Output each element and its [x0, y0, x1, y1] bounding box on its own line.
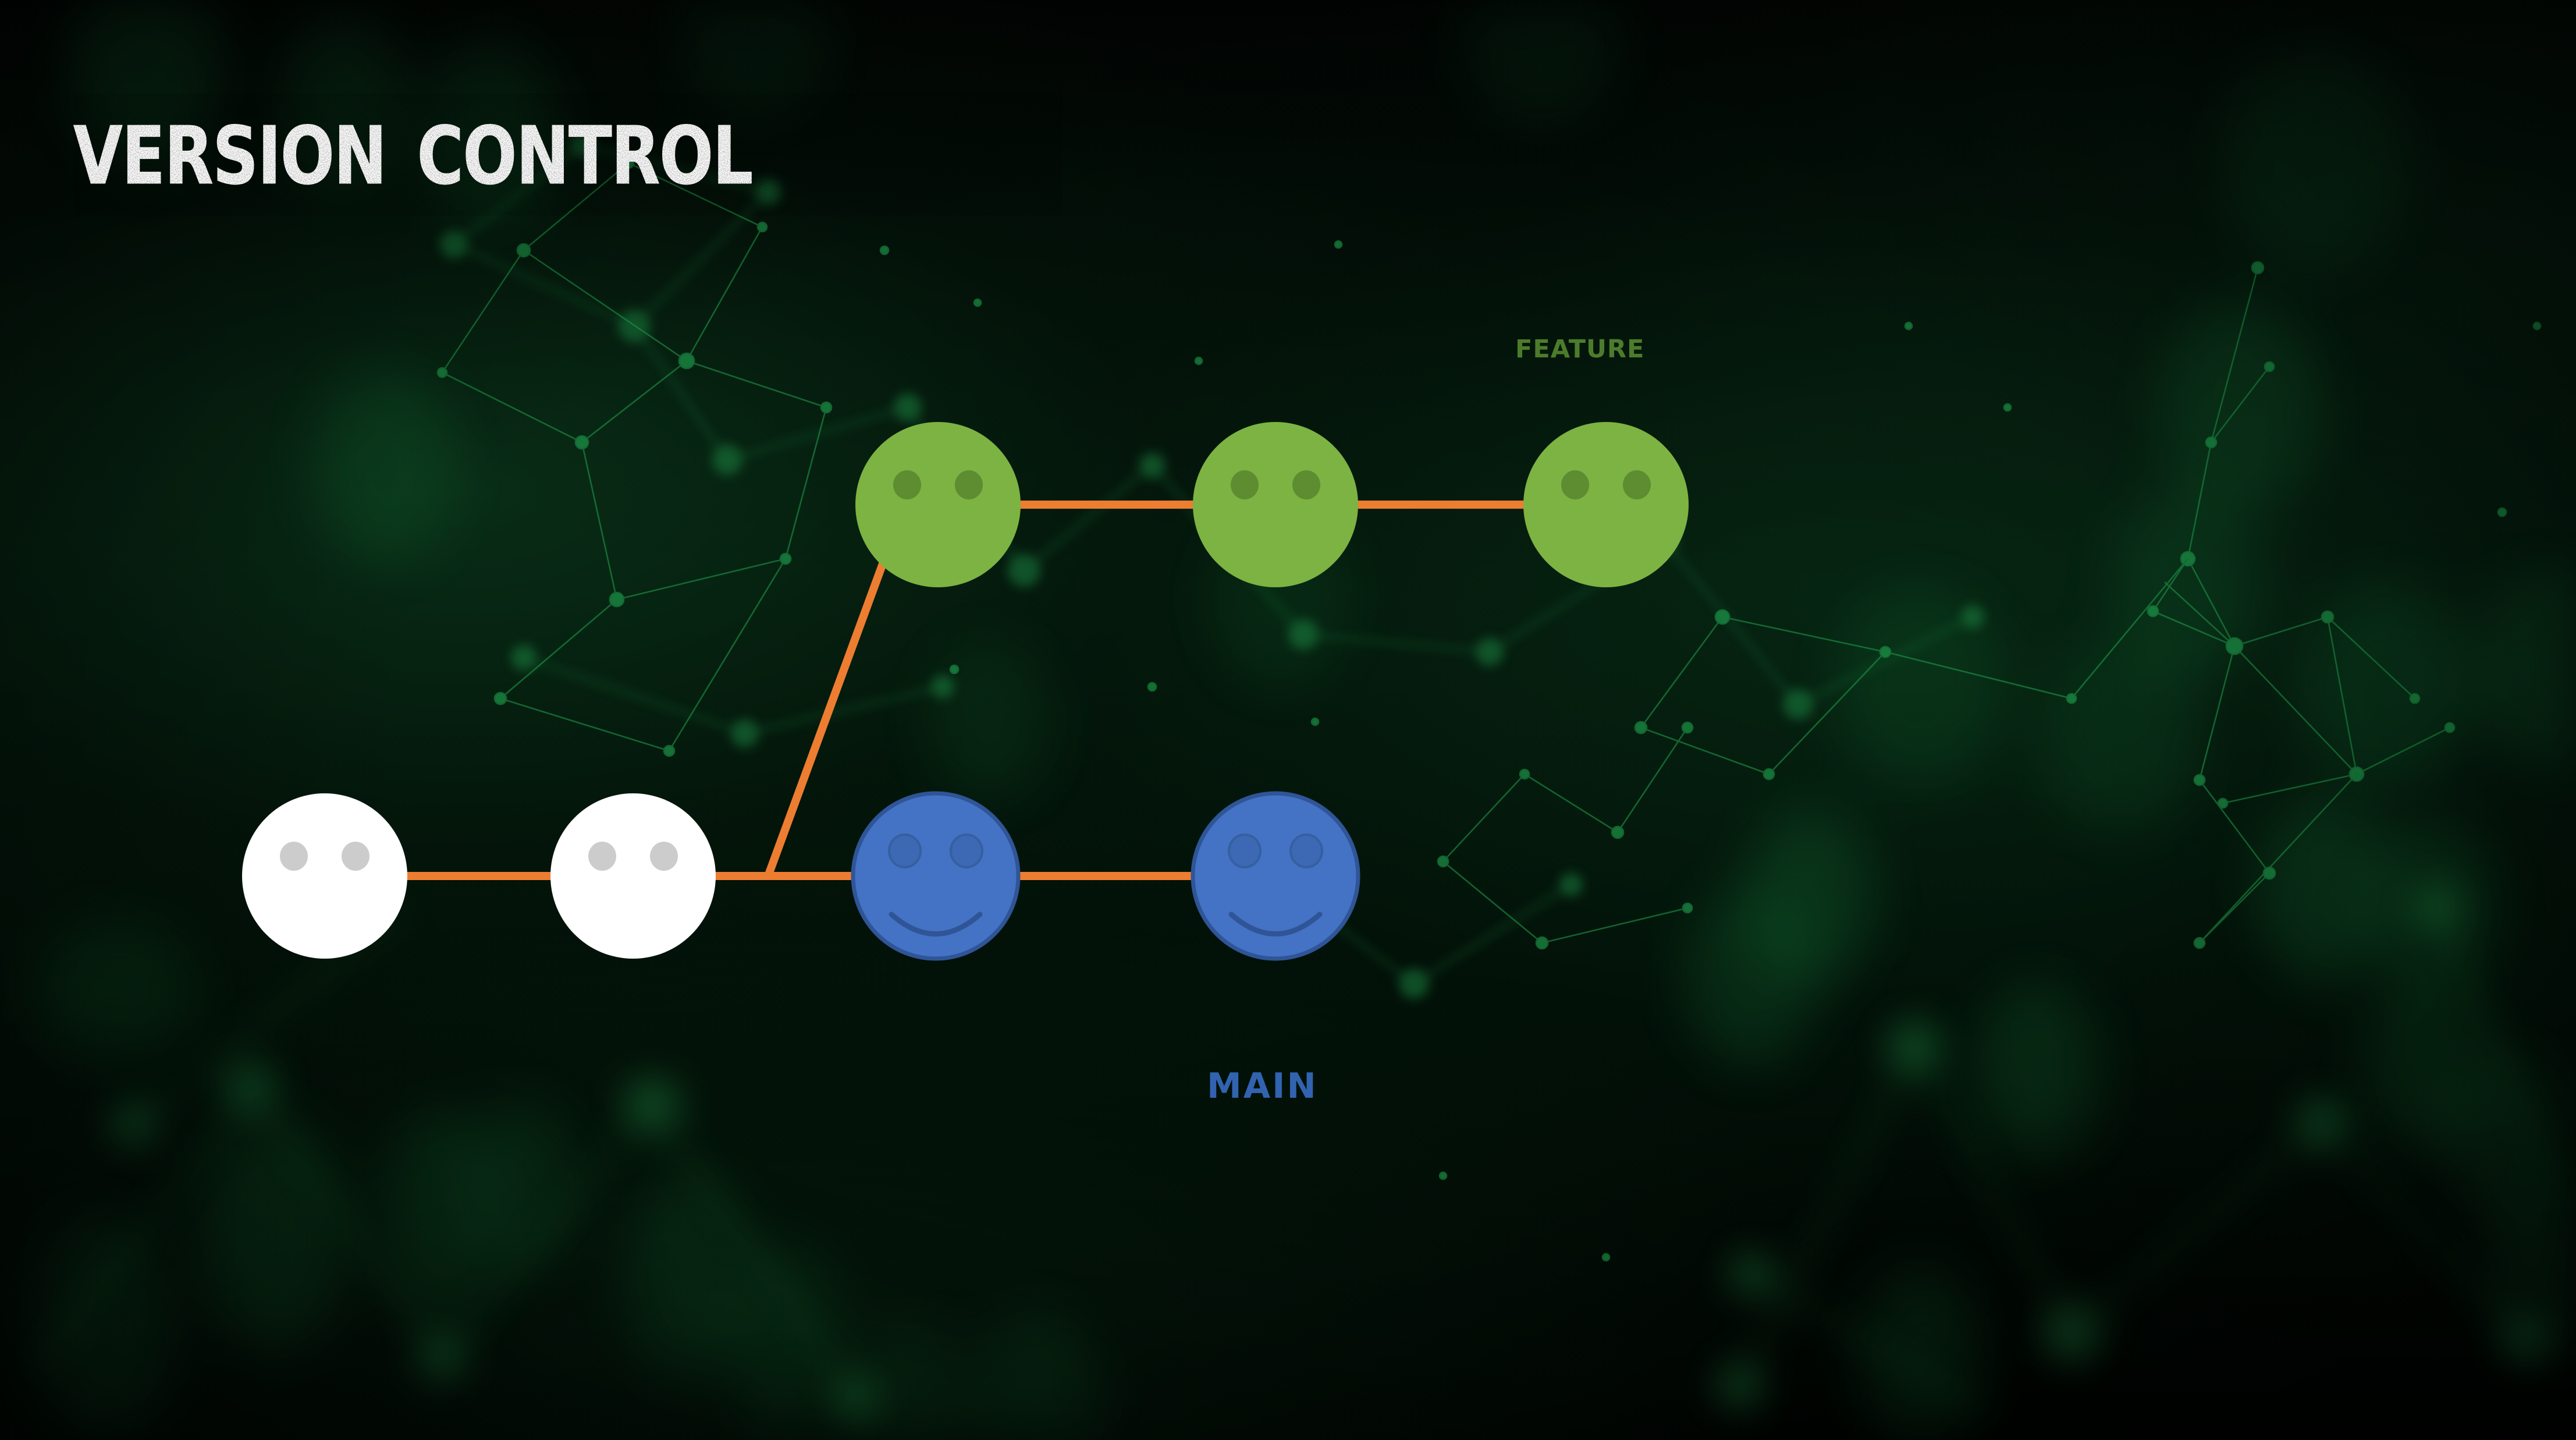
- slide-canvas: Version Control Feature MAIN: [0, 0, 2576, 1440]
- commit-root-1[interactable]: [242, 793, 407, 959]
- commit-main-2[interactable]: [1193, 793, 1358, 959]
- eye-right: [1291, 835, 1322, 867]
- eye-right: [1623, 470, 1651, 499]
- eye-left: [889, 835, 921, 867]
- commit-graph: [0, 0, 2576, 1440]
- commit-root-2[interactable]: [550, 793, 716, 959]
- commit-main-1[interactable]: [853, 793, 1018, 959]
- eye-left: [1561, 470, 1589, 499]
- eye-left: [588, 842, 616, 871]
- eye-left: [1231, 470, 1259, 499]
- eye-left: [893, 470, 921, 499]
- commit-feature-2[interactable]: [1193, 422, 1358, 587]
- eye-left: [1229, 835, 1260, 867]
- eye-right: [342, 842, 369, 871]
- eye-right: [955, 470, 983, 499]
- eye-right: [1292, 470, 1320, 499]
- commit-feature-1[interactable]: [855, 422, 1021, 587]
- eye-right: [650, 842, 678, 871]
- commit-feature-3[interactable]: [1523, 422, 1689, 587]
- eye-left: [280, 842, 308, 871]
- eye-right: [951, 835, 982, 867]
